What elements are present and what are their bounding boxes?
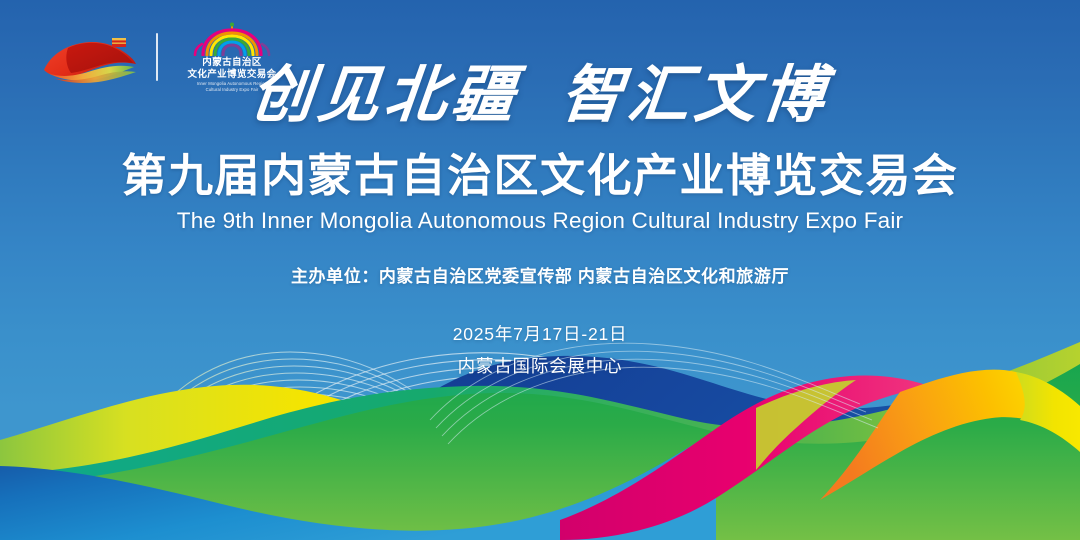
slogan-part2: 智汇文博 <box>557 56 833 134</box>
expo-poster: 内蒙古自治区 文化产业博览交易会 Inner Mongolia Autonomo… <box>0 0 1080 540</box>
event-meta: 2025年7月17日-21日 内蒙古国际会展中心 <box>0 318 1080 382</box>
title-english: The 9th Inner Mongolia Autonomous Region… <box>0 206 1080 236</box>
slogan-part1: 创见北疆 <box>246 56 522 134</box>
event-venue: 内蒙古国际会展中心 <box>0 350 1080 382</box>
event-date: 2025年7月17日-21日 <box>0 318 1080 350</box>
organizer-line: 主办单位：内蒙古自治区党委宣传部 内蒙古自治区文化和旅游厅 <box>0 262 1080 287</box>
title-chinese: 第九届内蒙古自治区文化产业博览交易会 <box>0 150 1080 202</box>
slogan: 创见北疆 智汇文博 <box>0 56 1080 134</box>
title-block: 第九届内蒙古自治区文化产业博览交易会 The 9th Inner Mongoli… <box>0 150 1080 236</box>
rainbow-yurt-arch-emblem-icon <box>189 22 275 56</box>
